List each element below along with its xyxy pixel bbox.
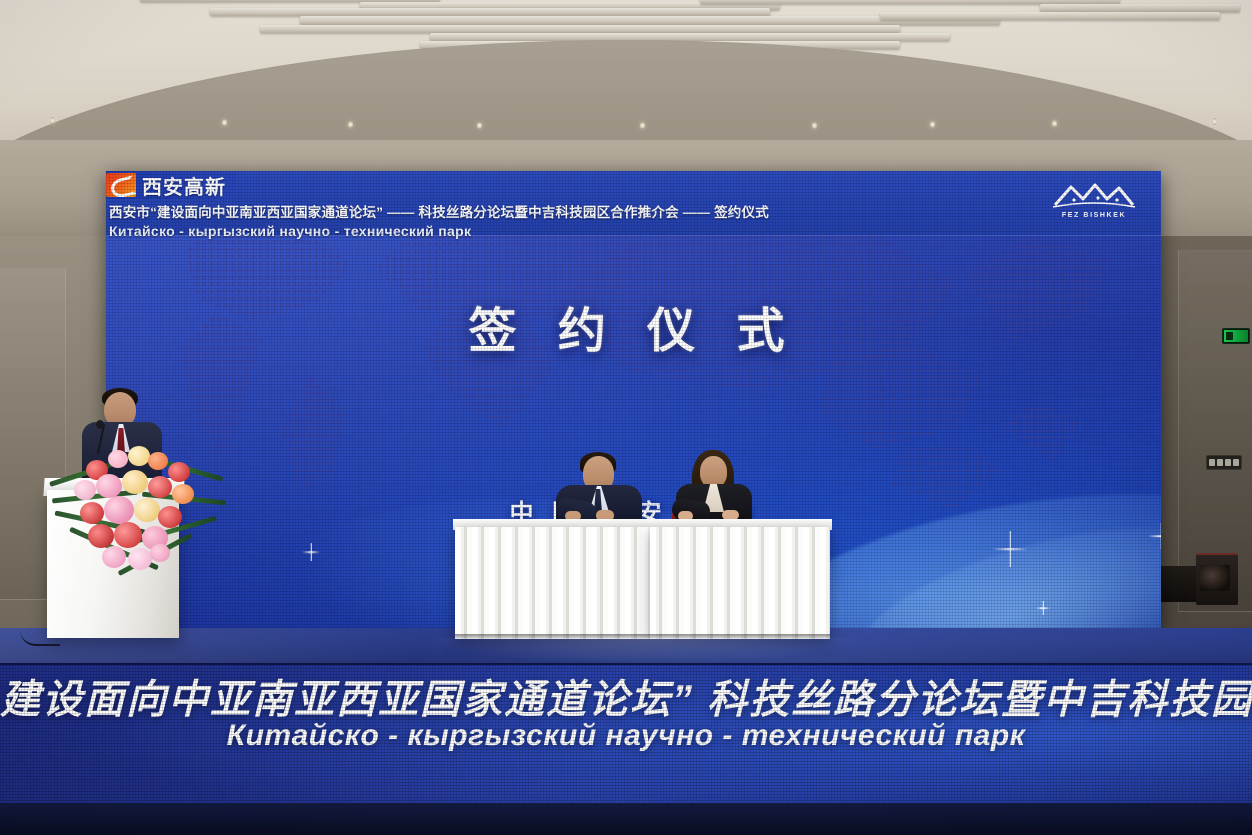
xian-hitech-logo: 西安高新 [106, 171, 236, 199]
downlight [1052, 120, 1057, 127]
stage-front-led-banner: 建设面向中亚南亚西亚国家通道论坛” 科技丝路分论坛暨中吉科技园区 Китайск… [0, 663, 1252, 807]
wall-control-plate[interactable] [1206, 455, 1242, 470]
mountain-peaks-icon [1049, 181, 1139, 211]
fez-bishkek-logo: FEZ BISHKEK [1041, 175, 1147, 225]
sparkle-icon [1036, 601, 1050, 615]
screen-main-title: 签 约 仪 式 [106, 291, 1161, 361]
brand-logo-text: 西安高新 [142, 171, 226, 200]
microphone-icon [96, 420, 104, 429]
downlight [1212, 118, 1217, 125]
downlight [930, 121, 935, 128]
exit-sign-icon [1222, 328, 1250, 344]
ceiling-slat [1040, 4, 1240, 12]
xian-hitech-swoosh-icon [106, 173, 136, 197]
downlight [640, 122, 645, 129]
downlight [222, 119, 227, 126]
stage-side-equipment-case [1196, 553, 1238, 605]
screen-header-title: 西安市“建设面向中亚南亚西亚国家通道论坛” —— 科技丝路分论坛暨中吉科技园区合… [109, 201, 769, 221]
downlight [477, 122, 482, 129]
screen-header-subtitle: Китайско - кыргызский научно - техническ… [109, 223, 471, 239]
sparkle-icon [992, 531, 1028, 567]
ceiling-slat [430, 33, 950, 41]
sparkle-icon [302, 543, 320, 561]
stage-banner-line-ru: Китайско - кыргызский научно - техническ… [0, 719, 1252, 753]
table-base-shadow [455, 634, 830, 639]
fez-bishkek-caption: FEZ BISHKEK [1062, 212, 1126, 219]
ceiling-slat [260, 25, 900, 33]
podium-flower-arrangement [50, 436, 222, 586]
floor-in-front-of-stage [0, 803, 1252, 835]
stage-banner-line-cn: 建设面向中亚南亚西亚国家通道论坛” 科技丝路分论坛暨中吉科技园区 [0, 667, 1252, 725]
downlight [348, 121, 353, 128]
ceiling-slat [880, 12, 1220, 20]
signing-table-right-skirt [650, 527, 830, 639]
ceiling-slat [210, 8, 770, 16]
conference-stage-photo: 西安高新 西安市“建设面向中亚南亚西亚国家通道论坛” —— 科技丝路分论坛暨中吉… [0, 0, 1252, 835]
signing-table-left-skirt [455, 527, 650, 639]
downlight [50, 117, 55, 124]
downlight [812, 122, 817, 129]
